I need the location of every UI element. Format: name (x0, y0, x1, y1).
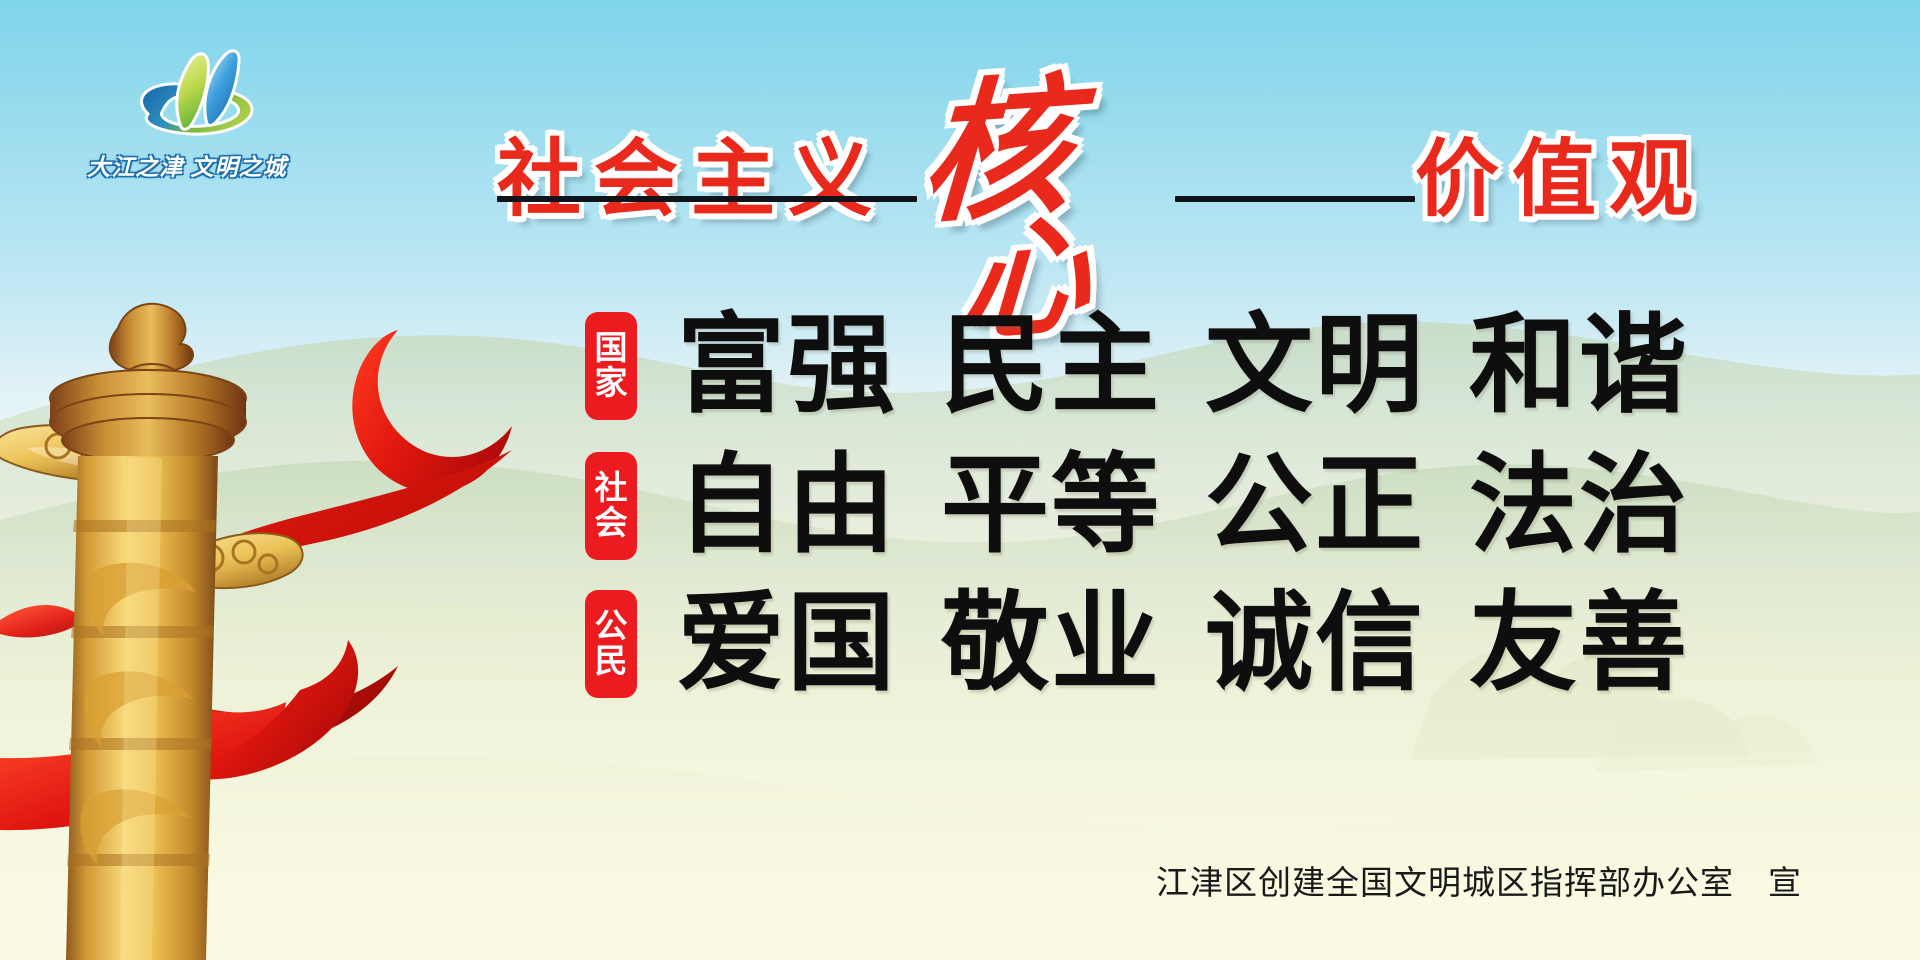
value-word: 友善 (1469, 581, 1689, 706)
badge-char: 国 (595, 331, 628, 366)
value-word: 自由 (677, 443, 897, 568)
value-word: 和谐 (1469, 303, 1689, 428)
poster-canvas: 大江之津 文明之城 (0, 0, 1920, 960)
value-row-citizen: 公 民 爱国敬业诚信友善 (585, 590, 1689, 698)
category-badge-social: 社 会 (585, 452, 637, 560)
category-badge-national: 国 家 (585, 312, 637, 420)
value-words-national: 富强民主文明和谐 (677, 312, 1689, 420)
value-words-social: 自由平等公正法治 (677, 452, 1689, 560)
headline-underline-right (1175, 196, 1415, 202)
value-word: 爱国 (677, 581, 897, 706)
value-word: 文明 (1205, 303, 1425, 428)
value-word: 法治 (1469, 443, 1689, 568)
value-word: 公正 (1205, 443, 1425, 568)
category-badge-citizen: 公 民 (585, 590, 637, 698)
value-word: 富强 (677, 303, 897, 428)
headline-left-text: 社会主义 (497, 112, 885, 233)
badge-char: 家 (595, 366, 628, 401)
value-word: 诚信 (1205, 581, 1425, 706)
value-word: 敬业 (941, 581, 1161, 706)
badge-char: 民 (595, 644, 628, 679)
core-values-list: 国 家 富强民主文明和谐 社 会 自由平等公正法治 公 民 爱国敬业诚信友善 (0, 300, 1920, 860)
headline-underline-left (497, 196, 917, 202)
issuer-footer-text: 江津区创建全国文明城区指挥部办公室 宣 (1156, 856, 1802, 904)
headline-block: 社会主义 核 心 价值观 (0, 0, 1920, 300)
value-words-citizen: 爱国敬业诚信友善 (677, 590, 1689, 698)
value-word: 民主 (941, 303, 1161, 428)
badge-char: 社 (595, 471, 628, 506)
headline-right-text: 价值观 (1415, 112, 1706, 233)
value-row-national: 国 家 富强民主文明和谐 (585, 312, 1689, 420)
badge-char: 公 (595, 609, 628, 644)
value-row-social: 社 会 自由平等公正法治 (585, 452, 1689, 560)
badge-char: 会 (595, 506, 628, 541)
value-word: 平等 (941, 443, 1161, 568)
